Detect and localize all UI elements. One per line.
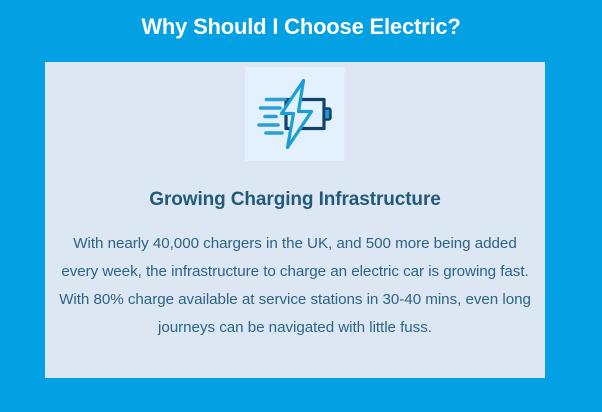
card-heading: Growing Charging Infrastructure — [45, 188, 545, 211]
page-title: Why Should I Choose Electric? — [0, 14, 602, 40]
fast-charging-battery-icon — [256, 78, 334, 150]
card-body-text: With nearly 40,000 chargers in the UK, a… — [56, 230, 534, 342]
icon-tile — [245, 67, 345, 161]
benefit-card: Growing Charging Infrastructure With nea… — [45, 62, 545, 378]
